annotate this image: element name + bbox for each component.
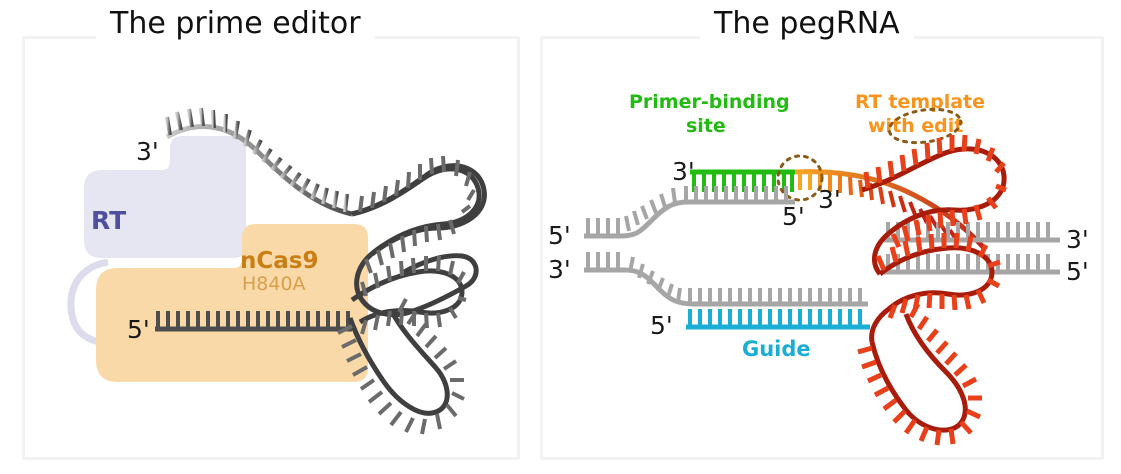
panel-prime-editor [22,36,520,460]
panel-title-prime-editor: The prime editor [96,6,375,41]
diagram-stage: The prime editor The pegRNA RT nCas9 [0,0,1121,474]
panel-title-pegrna: The pegRNA [700,6,914,41]
panel-pegrna [540,36,1104,460]
